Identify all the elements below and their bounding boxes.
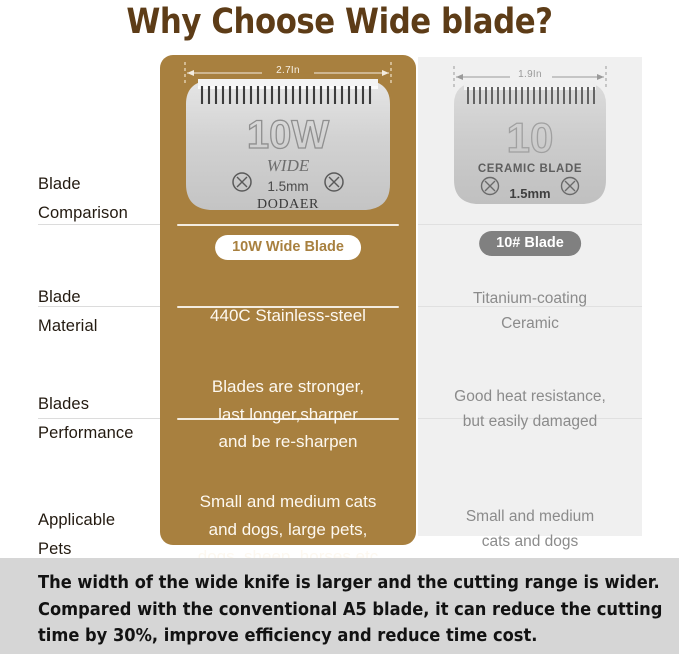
standard-blade-badge: 10# Blade xyxy=(479,231,581,256)
wide-blade-face-word: WIDE xyxy=(267,156,310,175)
wide-blade-face-size: 1.5mm xyxy=(267,179,308,194)
summary-caption: The width of the wide knife is larger an… xyxy=(0,558,679,654)
standard-blade-performance: Good heat resistance, but easily damaged xyxy=(420,384,640,434)
caption-line: time by 30%, improve efficiency and redu… xyxy=(38,623,612,650)
row-label-column: Blade Comparison Blade Material Blades P… xyxy=(0,48,160,553)
wide-blade-badge: 10W Wide Blade xyxy=(215,235,361,260)
caption-line: Compared with the conventional A5 blade,… xyxy=(38,597,612,624)
standard-blade-illustration: 10 CERAMIC BLADE 1.5mm xyxy=(432,76,628,222)
row-label-applicable-pets: Applicable Pets xyxy=(38,506,115,564)
comparison-table: Blade Comparison Blade Material Blades P… xyxy=(0,48,679,553)
caption-line: The width of the wide knife is larger an… xyxy=(38,570,612,597)
row-label-blades-performance: Blades Performance xyxy=(38,390,134,448)
wide-blade-illustration: 10W WIDE 1.5mm DODAER xyxy=(176,76,400,226)
wide-blade-performance: Blades are stronger, last longer,sharper… xyxy=(168,373,408,456)
wide-blade-face-number: 10W xyxy=(247,113,329,157)
standard-blade-face-size: 1.5mm xyxy=(509,186,550,201)
standard-blade-face-word: CERAMIC BLADE xyxy=(478,163,582,175)
standard-blade-image: 1.9In xyxy=(432,64,628,256)
infographic-page: Why Choose Wide blade? Blade Comparison … xyxy=(0,0,679,654)
page-title: Why Choose Wide blade? xyxy=(41,2,639,42)
row-label-blade-material: Blade Material xyxy=(38,283,98,341)
wide-blade-image: 2.7In xyxy=(176,60,400,260)
row-label-blade-comparison: Blade Comparison xyxy=(38,170,128,228)
wide-blade-face-brand: DODAER xyxy=(257,197,319,212)
wide-blade-material: 440C Stainless-steel xyxy=(168,302,408,330)
standard-blade-material: Titanium-coating Ceramic xyxy=(420,286,640,336)
wide-blade-dimension-label: 2.7In xyxy=(176,65,400,76)
standard-blade-pets: Small and medium cats and dogs xyxy=(420,504,640,554)
standard-blade-face-number: 10 xyxy=(507,114,554,161)
